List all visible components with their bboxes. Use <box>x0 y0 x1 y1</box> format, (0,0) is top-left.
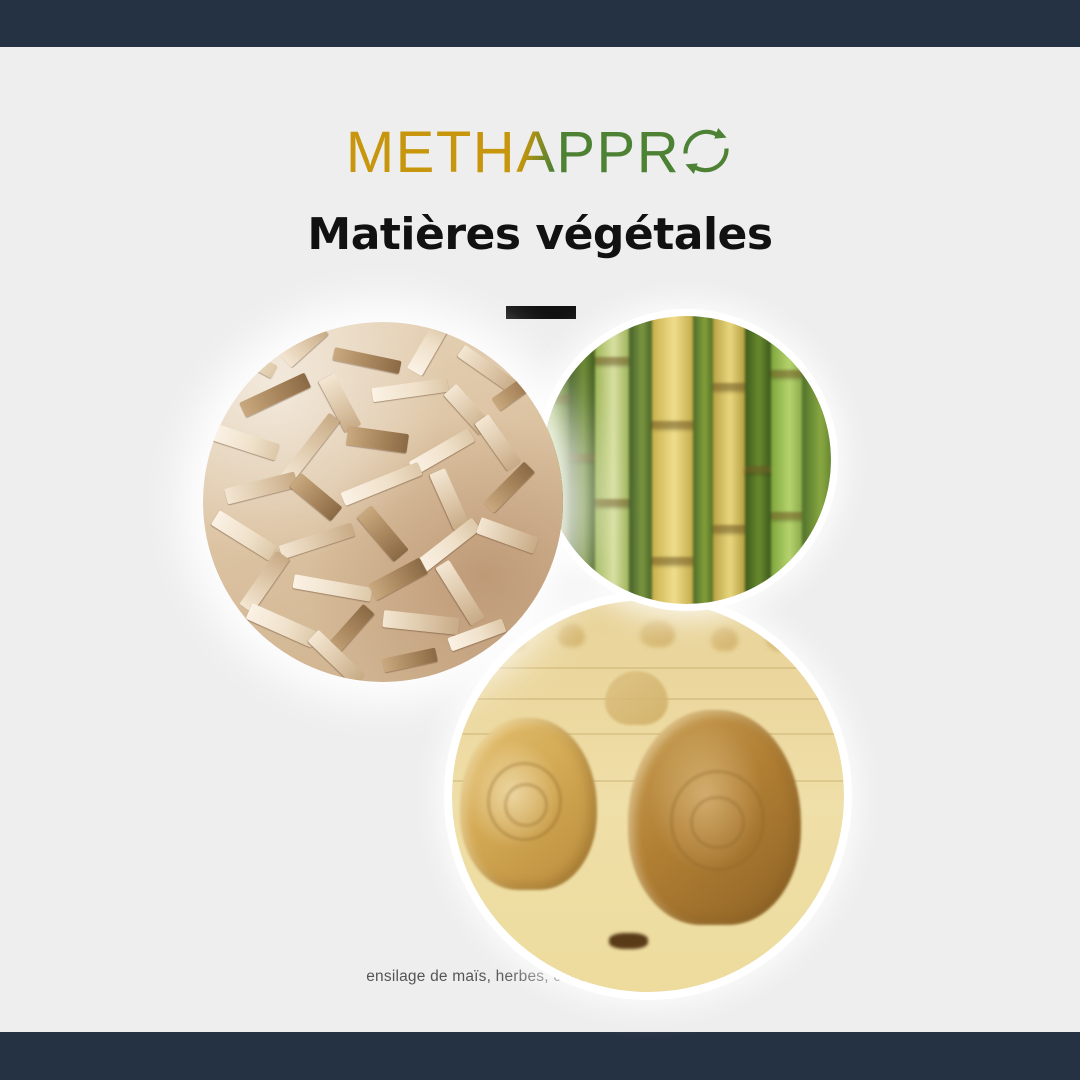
logo-text-ppro: PPR <box>556 120 680 185</box>
wood-chips-photo <box>203 322 563 682</box>
bamboo-stalks-photo <box>543 316 831 604</box>
logo-text-metha: METH <box>346 120 516 185</box>
bottom-bar <box>0 1032 1080 1080</box>
recycle-loop-icon <box>678 123 734 179</box>
poster-canvas: METHAPPR Matières végétales <box>0 0 1080 1080</box>
brand-logo[interactable]: METHAPPR <box>0 124 1080 182</box>
logo-text-pivot-a: A <box>516 120 556 185</box>
page-title: Matières végétales <box>0 211 1080 259</box>
top-bar <box>0 0 1080 47</box>
